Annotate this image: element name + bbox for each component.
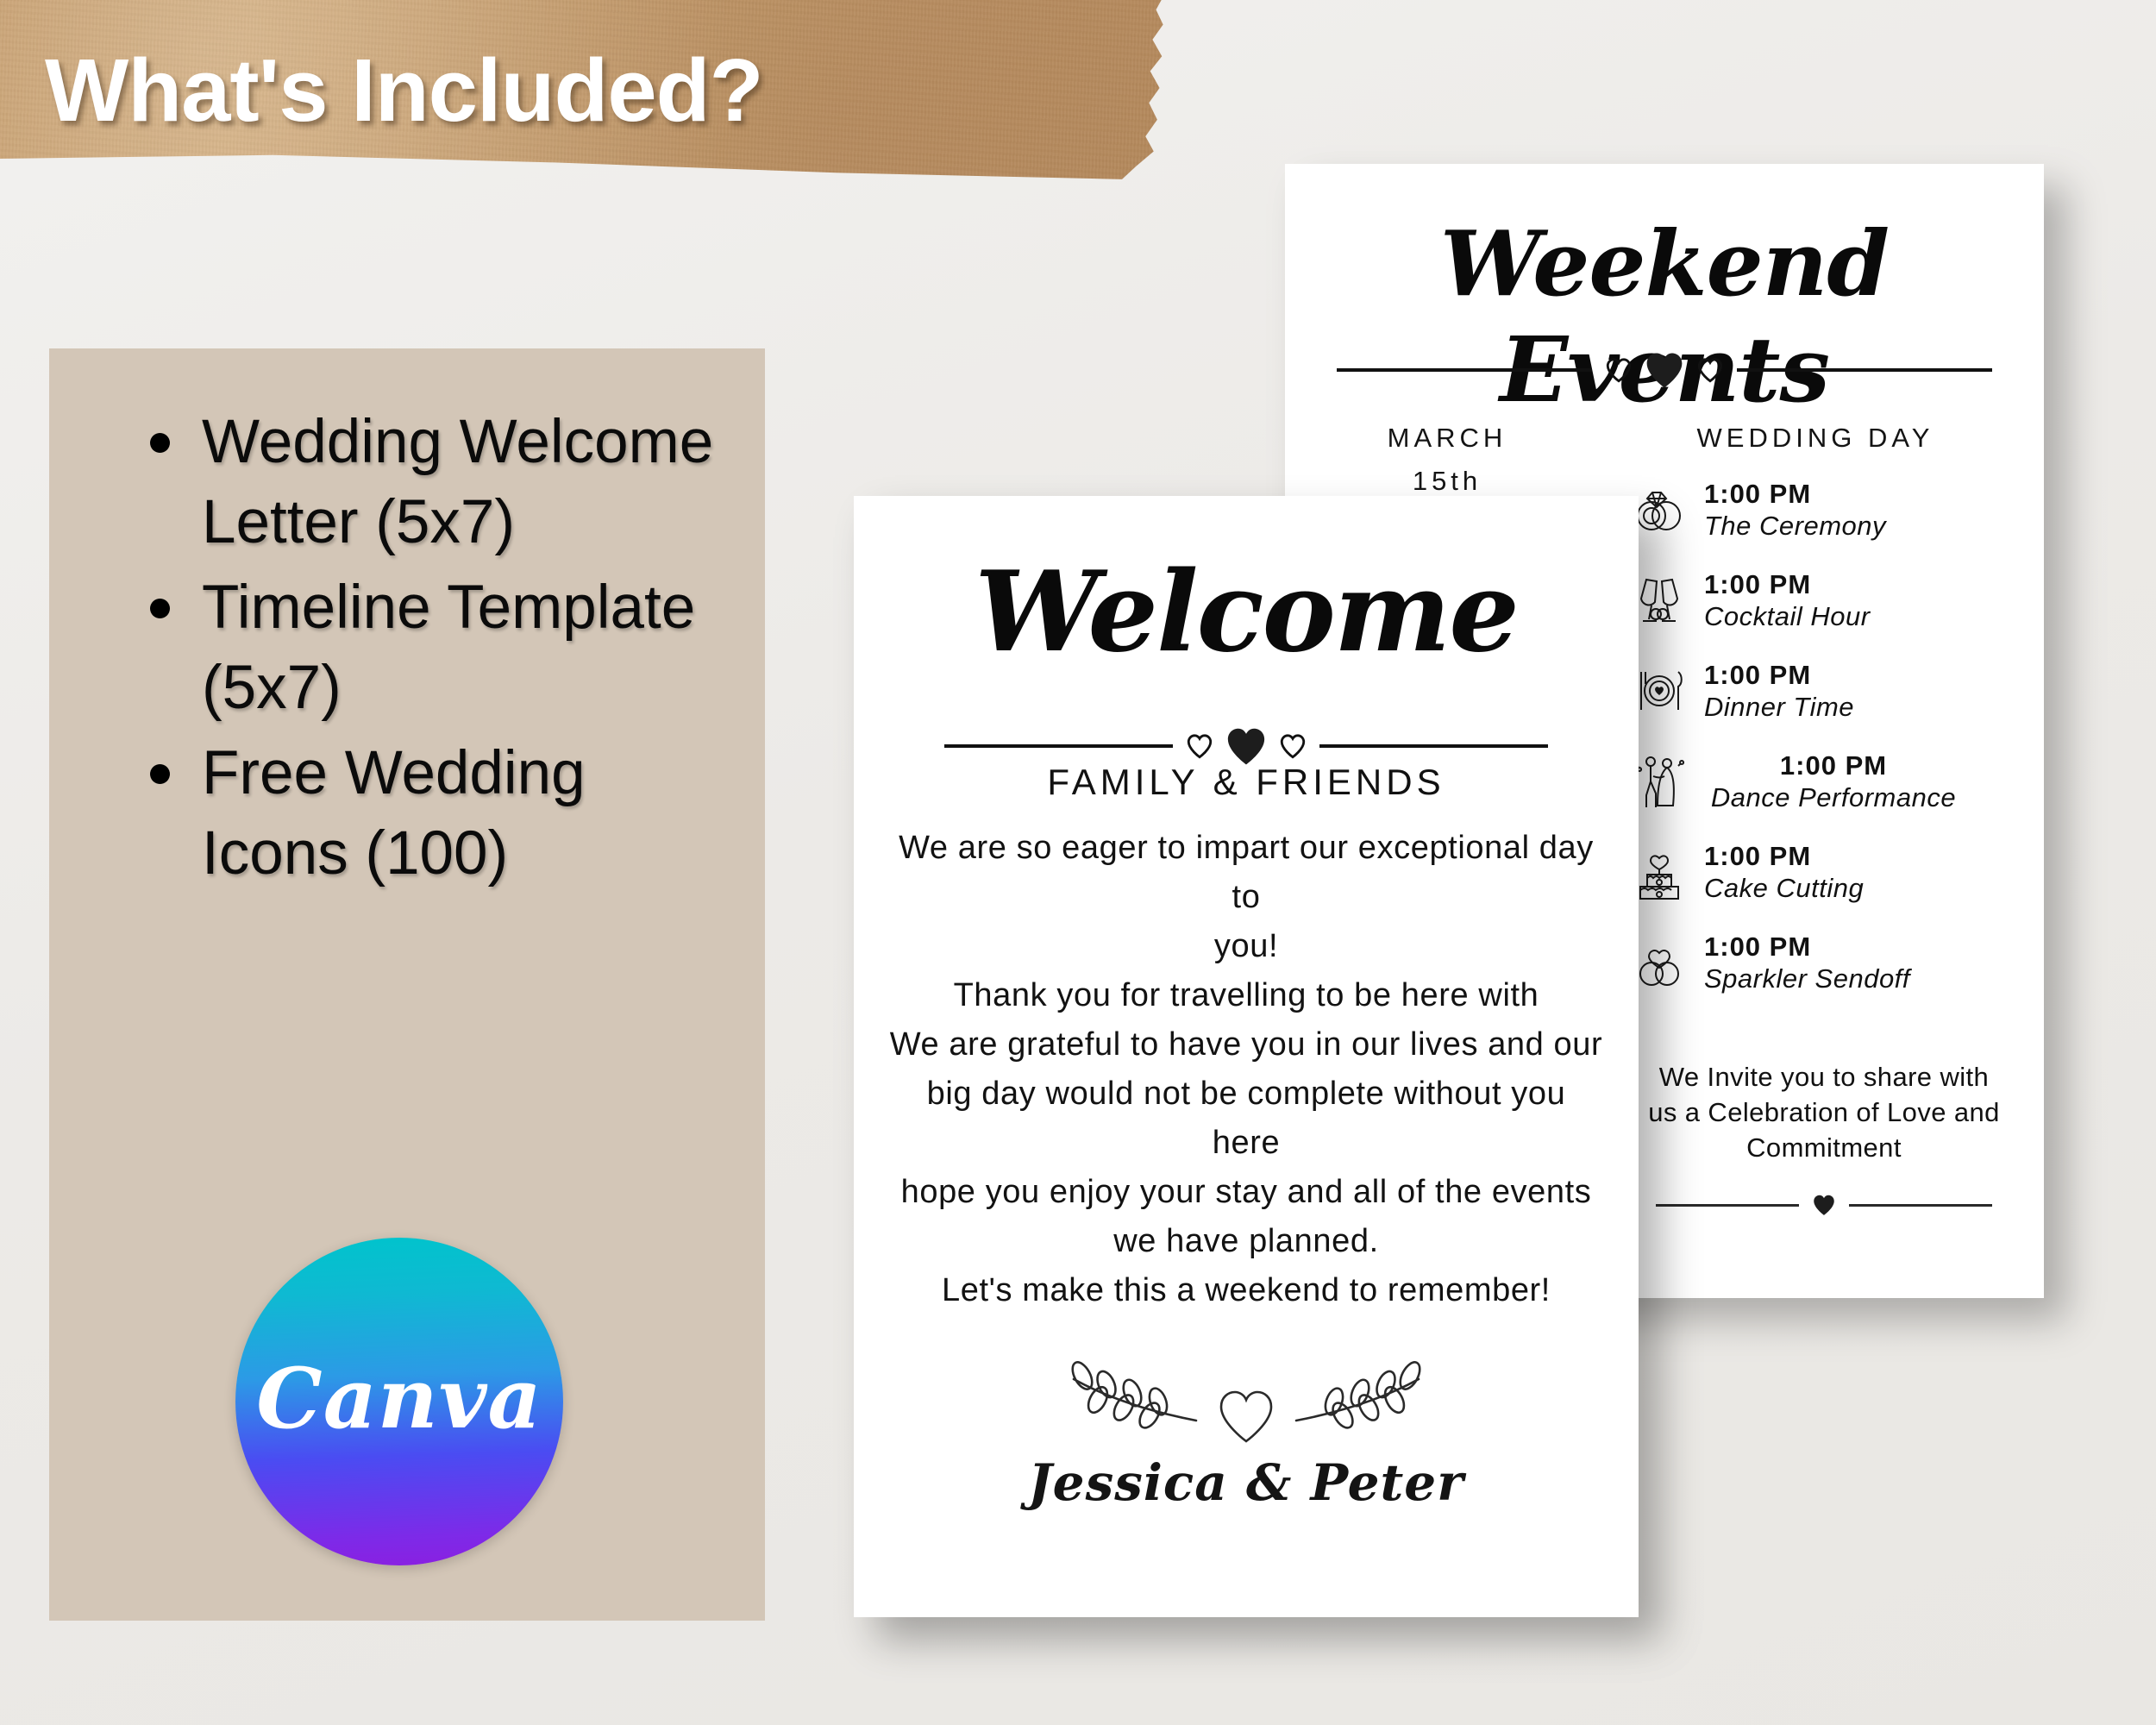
canva-wordmark: Canva	[256, 1350, 542, 1447]
divider-line-right	[1319, 744, 1548, 748]
timeline-event-name: The Ceremony	[1704, 511, 1886, 542]
timeline-text: 1:00 PM Cake Cutting	[1699, 840, 1864, 903]
timeline-time: 1:00 PM	[1704, 840, 1864, 873]
wedding-welcome-letter-card[interactable]: Welcome	[854, 496, 1639, 1617]
timeline-event-name: Cocktail Hour	[1704, 601, 1871, 632]
list-item: Timeline Template (5x7)	[140, 568, 743, 728]
timeline-row: 1:00 PM The Ceremony	[1620, 474, 2025, 545]
timeline-text: 1:00 PM Dance Performance	[1699, 750, 1963, 812]
timeline-time: 1:00 PM	[1704, 931, 1910, 963]
timeline-text: 1:00 PM Dinner Time	[1699, 659, 1854, 722]
laurel-heart-ornament	[854, 1358, 1639, 1453]
poster-canvas: What's Included? Wedding Welcome Letter …	[0, 0, 2156, 1725]
page-title: What's Included?	[45, 40, 763, 141]
divider-line-right	[1849, 1204, 1992, 1207]
heart-filled-icon	[1811, 1192, 1837, 1218]
timeline-time: 1:00 PM	[1704, 750, 1963, 782]
timeline-event-name: Cake Cutting	[1704, 873, 1864, 904]
events-footer-divider	[1656, 1192, 1992, 1218]
timeline-row: 1:00 PM Dance Performance	[1620, 746, 2025, 817]
welcome-card-title: Welcome	[854, 548, 1639, 677]
wedding-day-heading: WEDDING DAY	[1621, 423, 2009, 454]
welcome-letter-body: We are so eager to impart our exceptiona…	[888, 824, 1604, 1315]
list-item: Free Wedding Icons (100)	[140, 733, 743, 894]
timeline-time: 1:00 PM	[1704, 568, 1871, 601]
divider-line-left	[1656, 1204, 1799, 1207]
divider-line-left	[1337, 368, 1592, 372]
timeline-row: 1:00 PM Cocktail Hour	[1620, 565, 2025, 636]
heart-outline-icon	[1278, 731, 1307, 762]
couple-signature: Jessica & Peter	[854, 1453, 1639, 1512]
list-item: Wedding Welcome Letter (5x7)	[140, 402, 743, 562]
timeline-time: 1:00 PM	[1704, 478, 1886, 511]
welcome-card-subtitle: FAMILY & FRIENDS	[854, 762, 1639, 803]
wedding-day-timeline: 1:00 PM The Ceremony 1:00 PM Coc	[1620, 474, 2025, 1018]
events-month-heading: MARCH	[1318, 423, 1576, 454]
timeline-text: 1:00 PM Cocktail Hour	[1699, 568, 1871, 631]
heart-outline-icon	[1185, 731, 1214, 762]
timeline-row: 1:00 PM Dinner Time	[1620, 655, 2025, 726]
heart-outline-icon	[1604, 354, 1633, 386]
events-invitation-text: We Invite you to share with us a Celebra…	[1647, 1059, 2001, 1166]
heart-group	[1604, 347, 1725, 393]
timeline-event-name: Dinner Time	[1704, 692, 1854, 723]
divider-line-left	[944, 744, 1173, 748]
timeline-row: 1:00 PM Sparkler Sendoff	[1620, 927, 2025, 998]
timeline-time: 1:00 PM	[1704, 659, 1854, 692]
timeline-event-name: Sparkler Sendoff	[1704, 963, 1910, 994]
heart-filled-icon	[1642, 347, 1687, 393]
canva-logo-badge: Canva	[235, 1238, 563, 1565]
timeline-row: 1:00 PM Cake Cutting	[1620, 837, 2025, 907]
timeline-text: 1:00 PM Sparkler Sendoff	[1699, 931, 1910, 994]
features-list: Wedding Welcome Letter (5x7) Timeline Te…	[140, 402, 743, 899]
timeline-text: 1:00 PM The Ceremony	[1699, 478, 1886, 541]
timeline-event-name: Dance Performance	[1704, 782, 1963, 813]
divider-line-right	[1737, 368, 1992, 372]
heart-divider	[1337, 347, 1992, 393]
heart-outline-icon	[1695, 354, 1725, 386]
events-date-value: 15th	[1318, 466, 1576, 497]
